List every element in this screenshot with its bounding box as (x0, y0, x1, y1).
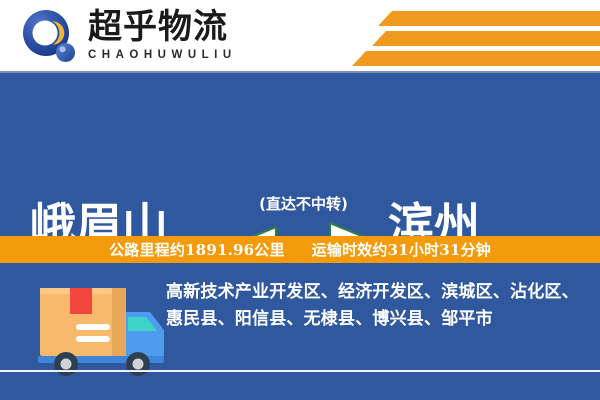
brand-block: 超乎物流 CHAOHUWULIU (88, 8, 268, 66)
coverage-panel: 高新技术产业开发区、经济开发区、滨城区、沾化区、 惠民县、阳信县、无棣县、博兴县… (0, 263, 600, 400)
header-stripe-decoration (300, 0, 600, 73)
stripe-1 (378, 11, 600, 26)
brand-name-en: CHAOHUWULIU (88, 48, 268, 62)
bottom-divider (0, 370, 600, 372)
coverage-area-text: 高新技术产业开发区、经济开发区、滨城区、沾化区、 惠民县、阳信县、无棣县、博兴县… (166, 279, 590, 333)
stripe-3 (352, 51, 600, 66)
route-note-direct: (直达不中转) (246, 193, 361, 214)
coverage-line-1: 高新技术产业开发区、经济开发区、滨城区、沾化区、 (166, 279, 590, 306)
logistics-route-banner: 超乎物流 CHAOHUWULIU 峨眉山 (直达不中转) 【往返运输】 滨州 公… (0, 0, 600, 400)
stats-bar: 公路里程约1891.96公里 运输时效约31小时31分钟 (0, 236, 600, 263)
coverage-line-2: 惠民县、阳信县、无棣县、博兴县、邹平市 (166, 306, 590, 333)
brand-name-cn: 超乎物流 (88, 8, 268, 46)
distance-label: 公路里程约1891.96公里 (109, 241, 285, 259)
duration-label: 运输时效约31小时31分钟 (312, 241, 491, 259)
stripe-2 (372, 31, 600, 46)
delivery-truck-icon (24, 274, 174, 379)
stats-inner: 公路里程约1891.96公里 运输时效约31小时31分钟 (109, 239, 491, 260)
circle-crescent-logo-icon (22, 9, 78, 65)
route-panel: 峨眉山 (直达不中转) 【往返运输】 滨州 (0, 73, 600, 236)
header-bar: 超乎物流 CHAOHUWULIU (0, 0, 600, 73)
